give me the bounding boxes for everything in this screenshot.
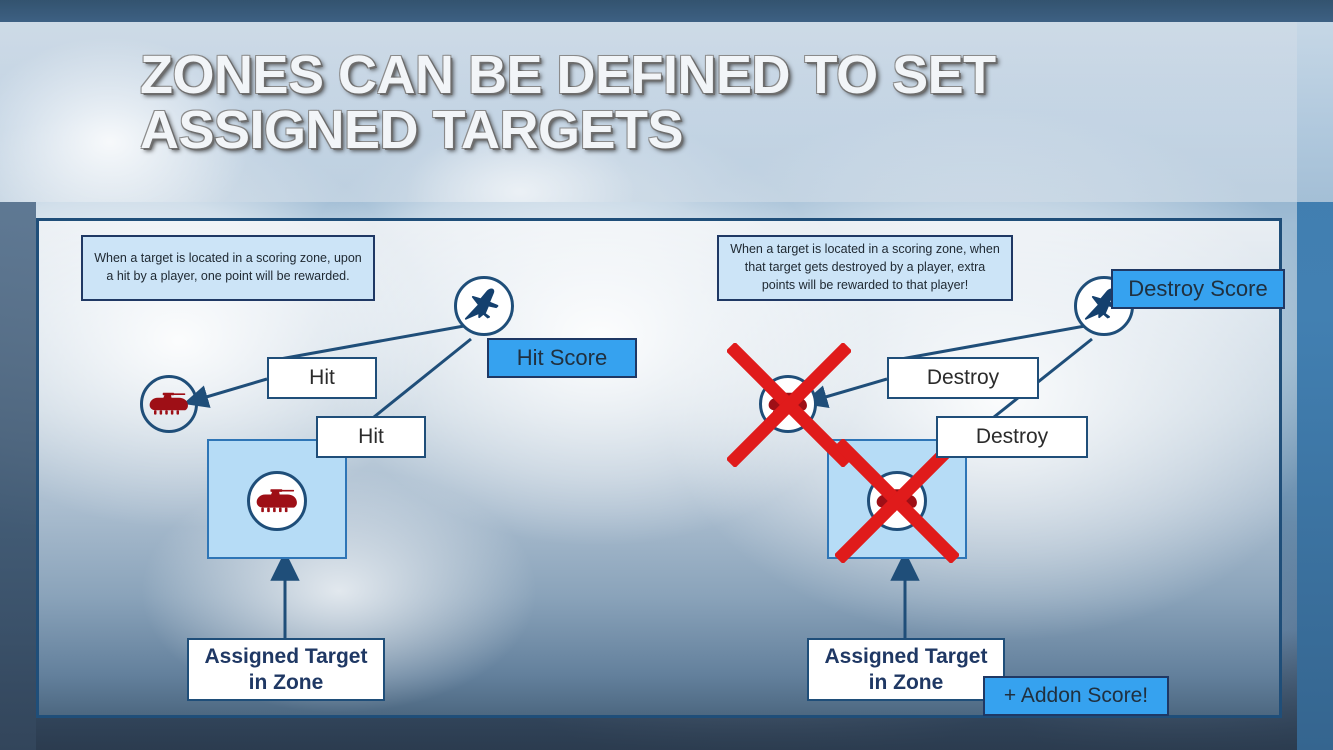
right-zone-caption: Assigned Target in Zone <box>807 638 1005 701</box>
tank-icon <box>876 485 918 517</box>
diagram-panel: When a target is located in a scoring zo… <box>36 218 1282 718</box>
right-destroy-label-bottom: Destroy <box>936 416 1088 458</box>
addon-score-badge[interactable]: + Addon Score! <box>983 676 1169 716</box>
top-strip <box>0 0 1333 22</box>
left-hit-label-top: Hit <box>267 357 377 399</box>
tank-icon <box>768 389 808 419</box>
right-info-box: When a target is located in a scoring zo… <box>717 235 1013 301</box>
slide-canvas: ZONES CAN BE DEFINED TO SET ASSIGNED TAR… <box>0 0 1333 750</box>
fighter-jet-icon <box>463 285 505 327</box>
tank-icon <box>256 485 298 517</box>
left-edge-band <box>0 202 36 750</box>
left-zone-caption: Assigned Target in Zone <box>187 638 385 701</box>
left-unassigned-target[interactable] <box>140 375 198 433</box>
right-unassigned-target[interactable] <box>759 375 817 433</box>
tank-icon <box>149 389 189 419</box>
left-hit-label-bottom: Hit <box>316 416 426 458</box>
page-title: ZONES CAN BE DEFINED TO SET ASSIGNED TAR… <box>140 48 1140 158</box>
hit-score-badge[interactable]: Hit Score <box>487 338 637 378</box>
destroy-score-badge[interactable]: Destroy Score <box>1111 269 1285 309</box>
left-plane-marker[interactable] <box>454 276 514 336</box>
left-assigned-target[interactable] <box>247 471 307 531</box>
left-info-box: When a target is located in a scoring zo… <box>81 235 375 301</box>
right-destroy-label-top: Destroy <box>887 357 1039 399</box>
right-assigned-target[interactable] <box>867 471 927 531</box>
